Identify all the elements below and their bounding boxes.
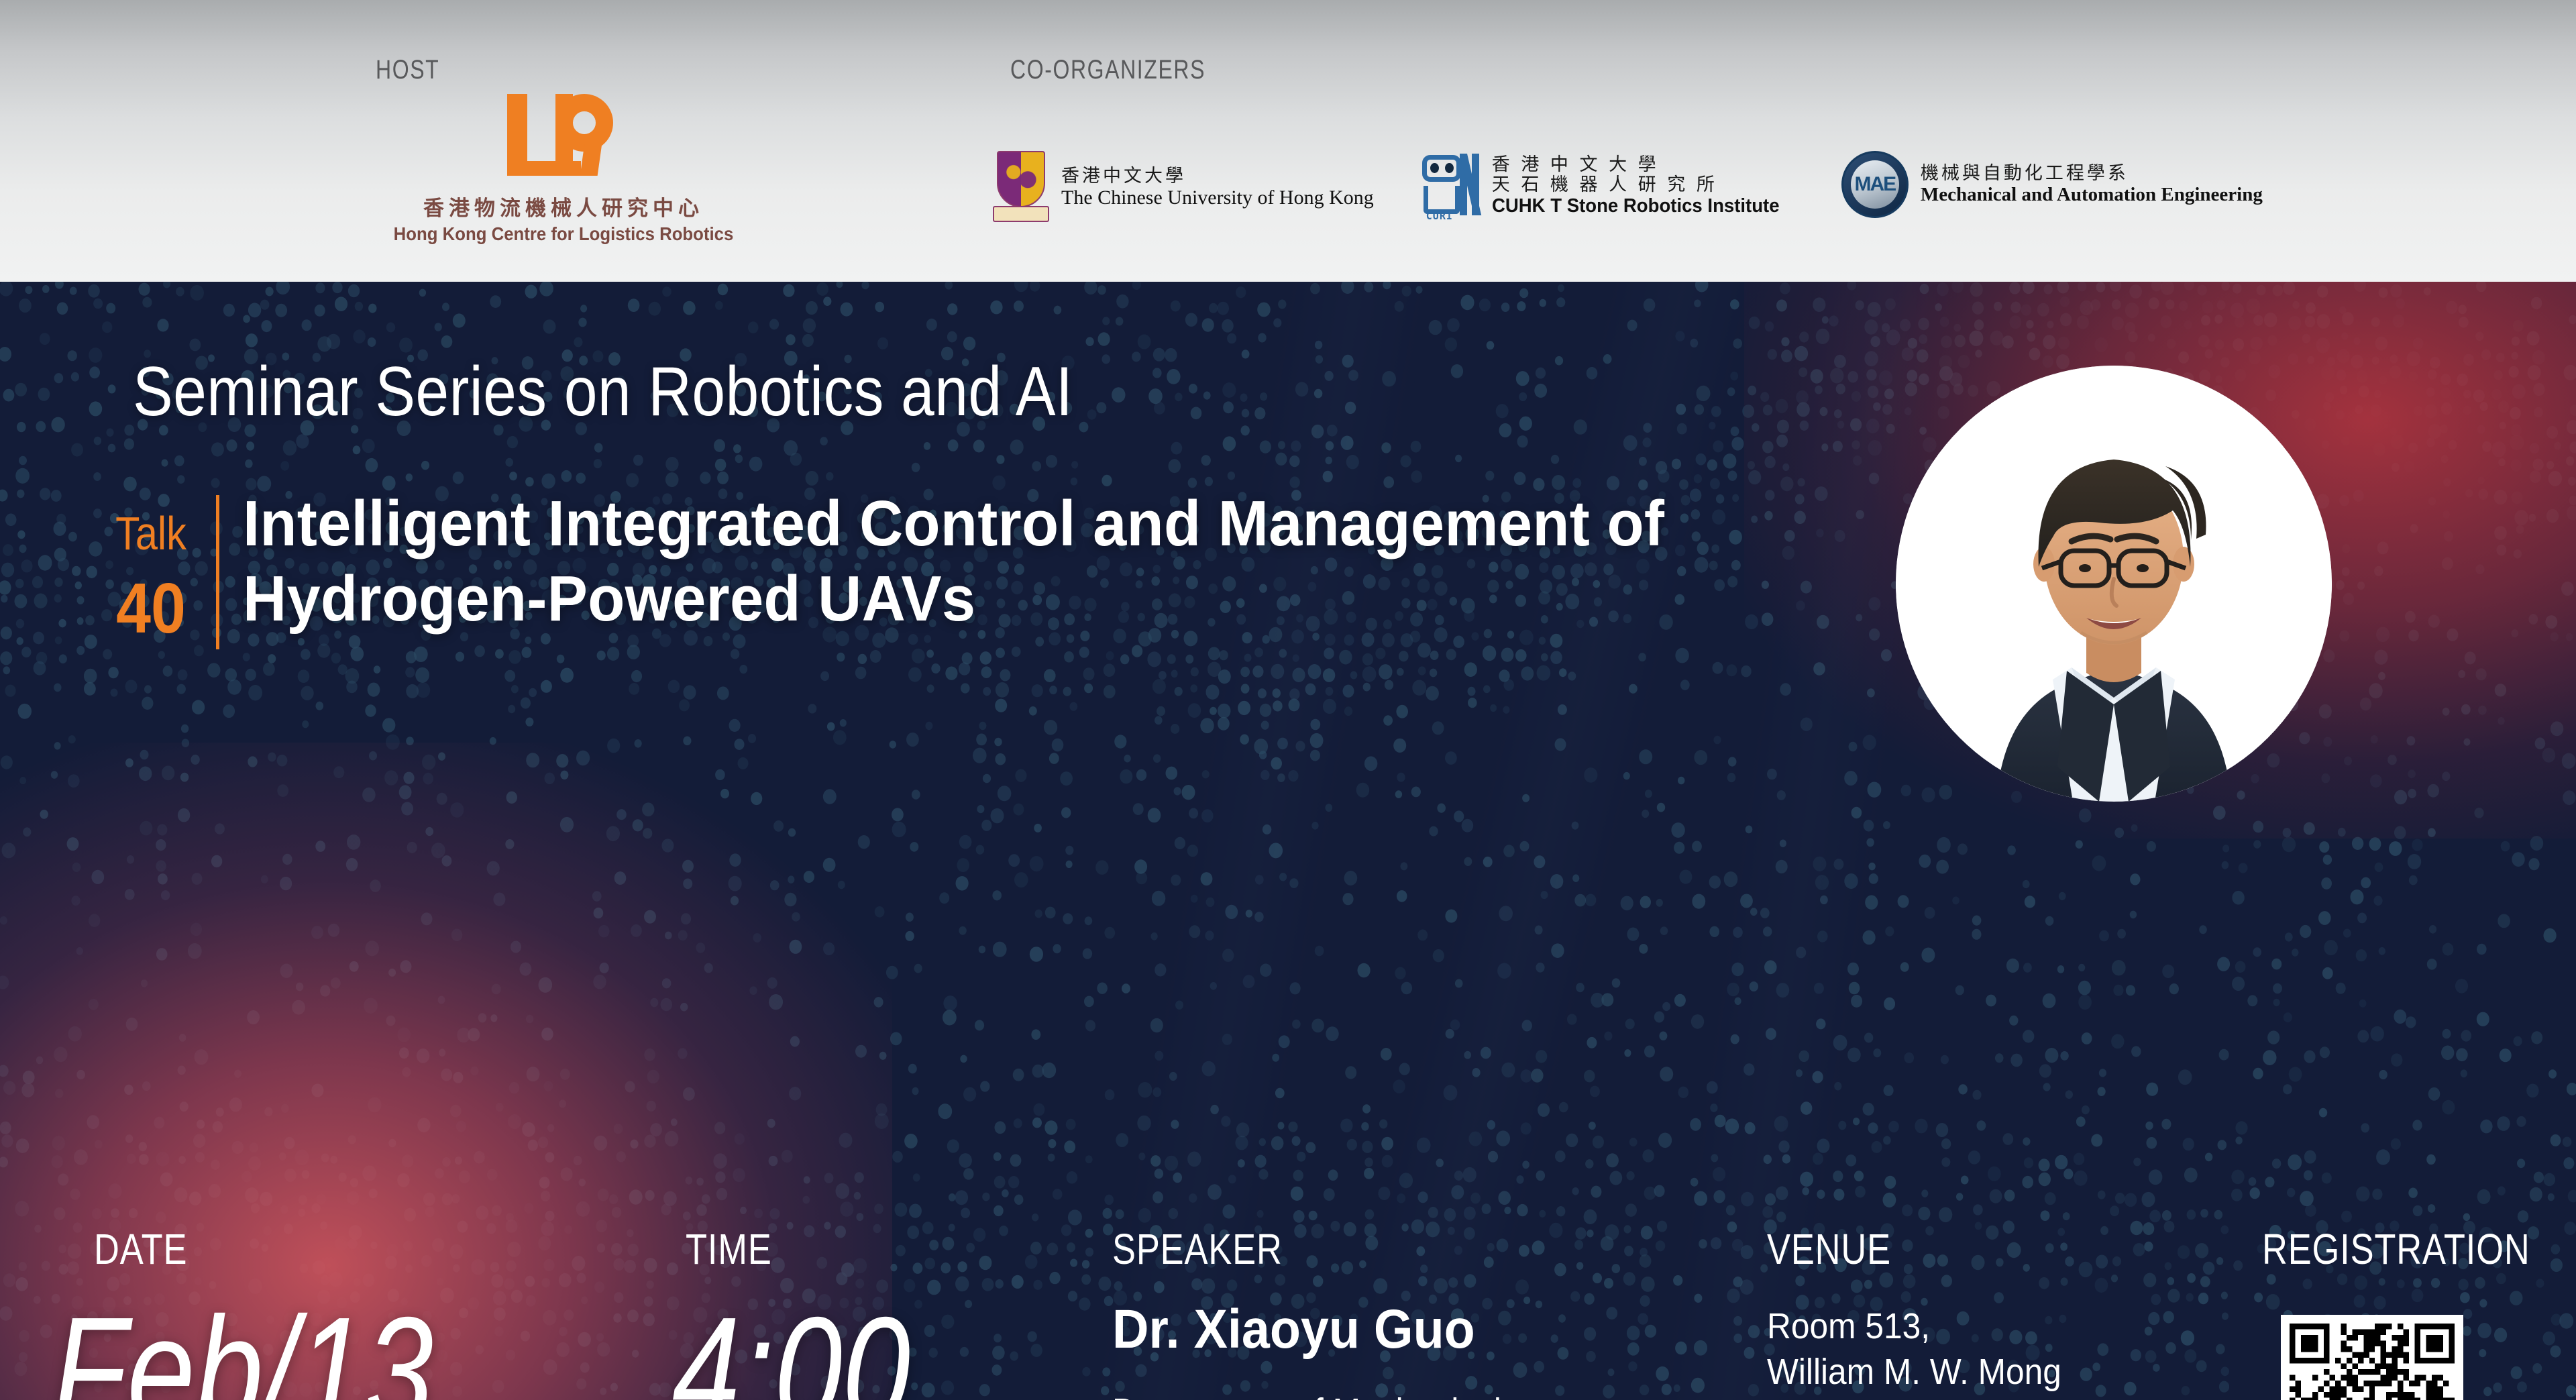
host-name-en: Hong Kong Centre for Logistics Robotics: [390, 223, 736, 245]
cuhk-name-cn: 香港中文大學: [1061, 166, 1374, 186]
curi-name-cn-line1: 香 港 中 文 大 學: [1492, 155, 1794, 175]
poster-content: Seminar Series on Robotics and AI Talk 4…: [0, 282, 2576, 1400]
host-logo-block: 香港物流機械人研究中心 Hong Kong Centre for Logisti…: [376, 94, 751, 245]
speaker-affiliation: Department of Mechanical Engineering, Ci…: [1112, 1389, 1581, 1400]
speaker-portrait: [1896, 366, 2332, 802]
date-value: Feb/13: [52, 1295, 433, 1400]
mae-logo-text: MAE: [1855, 173, 1896, 196]
coorganizer-mae: MAE 機械與自動化工程學系 Mechanical and Automation…: [1841, 151, 2263, 218]
coorganizer-cuhk: 香港中文大學 The Chinese University of Hong Ko…: [993, 151, 1374, 225]
cuhk-crest-icon: [993, 151, 1049, 225]
coorganizer-curi: CURI 香 港 中 文 大 學 天 石 機 器 人 研 究 所 CUHK T …: [1421, 151, 1794, 221]
host-label: HOST: [376, 55, 439, 85]
registration-label: REGISTRATION: [2262, 1224, 2530, 1274]
time-label: TIME: [686, 1224, 772, 1274]
host-name-cn: 香港物流機械人研究中心: [376, 197, 751, 220]
curi-name-en: CUHK T Stone Robotics Institute: [1492, 195, 1780, 217]
date-label: DATE: [94, 1224, 187, 1274]
mae-name-cn: 機械與自動化工程學系: [1921, 164, 2263, 184]
poster-header: HOST CO-ORGANIZERS 香港物流機械人研究中心 Hong Kong…: [0, 0, 2576, 282]
speaker-label: SPEAKER: [1112, 1224, 1283, 1274]
seminar-poster: HOST CO-ORGANIZERS 香港物流機械人研究中心 Hong Kong…: [0, 0, 2576, 1400]
coorganizer-logos: 香港中文大學 The Chinese University of Hong Ko…: [993, 151, 2263, 225]
mae-name-en: Mechanical and Automation Engineering: [1921, 184, 2263, 205]
mae-seal-icon: MAE: [1841, 151, 1909, 218]
curi-logo-text: CURI: [1426, 210, 1453, 222]
venue-value: Room 513, William M. W. Mong Engineering…: [1767, 1303, 2199, 1400]
curi-robot-icon: CURI: [1421, 151, 1480, 221]
speaker-name: Dr. Xiaoyu Guo: [1112, 1298, 1475, 1361]
venue-label: VENUE: [1767, 1224, 1891, 1274]
curi-name-cn-line2: 天 石 機 器 人 研 究 所: [1492, 175, 1794, 195]
time-value: 4:00: [672, 1295, 910, 1400]
coorganizers-label: CO-ORGANIZERS: [1010, 55, 1205, 85]
cuhk-name-en: The Chinese University of Hong Kong: [1061, 186, 1374, 209]
registration-qr-code[interactable]: [2281, 1315, 2463, 1400]
lr-monogram-icon: [503, 94, 624, 188]
